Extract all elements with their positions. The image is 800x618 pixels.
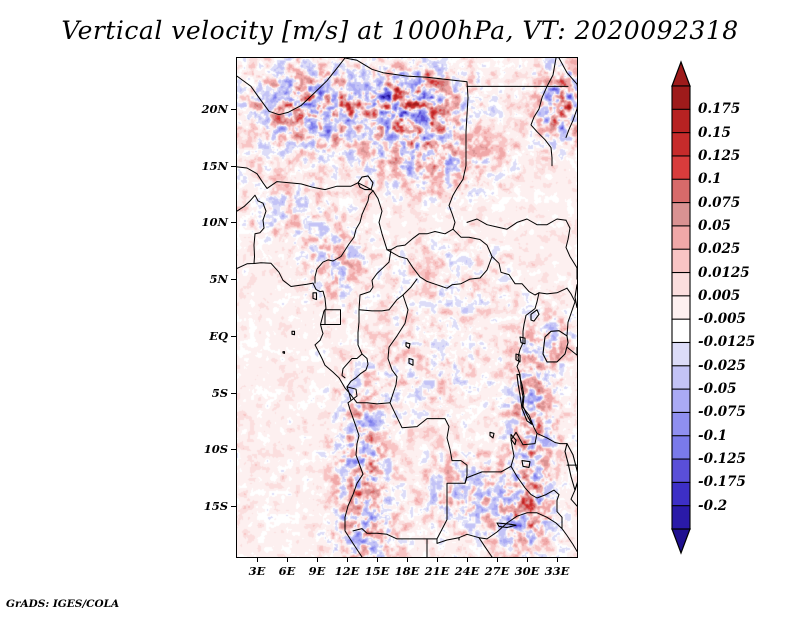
colorbar-tick-label: -0.075 <box>698 404 746 420</box>
colorbar-tick-label: -0.2 <box>698 498 727 514</box>
bioko-island <box>313 293 317 300</box>
colorbar-tick-label: -0.1 <box>698 428 727 444</box>
x-tick <box>287 557 288 562</box>
colorbar-bottom-arrow <box>672 529 690 553</box>
nile-river <box>531 58 556 166</box>
sao-tome <box>292 331 295 334</box>
x-tick <box>257 557 258 562</box>
y-axis-label: 5N <box>188 272 228 286</box>
x-tick <box>347 557 348 562</box>
lake-tumba <box>406 343 410 349</box>
colorbar-tick-label: 0.125 <box>698 148 740 164</box>
border-drc-angola-zambia <box>349 393 467 539</box>
lake-malawi <box>565 444 577 491</box>
lake-turkana <box>575 285 577 308</box>
colorbar: 0.1750.150.1250.10.0750.050.0250.01250.0… <box>668 60 798 555</box>
colorbar-tick-label: -0.175 <box>698 474 746 490</box>
border-mali-niger-s <box>237 167 267 189</box>
y-tick <box>231 449 236 450</box>
x-axis-label: 24E <box>455 564 480 578</box>
x-tick <box>557 557 558 562</box>
colorbar-band <box>672 412 690 436</box>
annobon <box>283 352 285 354</box>
border-nigeria-cameroon <box>315 183 373 283</box>
x-tick <box>467 557 468 562</box>
coast-red-sea <box>559 58 577 137</box>
colorbar-band <box>672 179 690 203</box>
y-tick <box>231 109 236 110</box>
colorbar-tick-label: 0.175 <box>698 101 740 117</box>
lake-mai-ndombe <box>409 359 413 366</box>
x-axis-label: 6E <box>279 564 296 578</box>
map-frame <box>236 57 578 558</box>
colorbar-tick-label: -0.125 <box>698 451 746 467</box>
x-axis-label: 3E <box>249 564 266 578</box>
y-tick <box>231 506 236 507</box>
border-cameroon-chad-car <box>347 191 391 393</box>
x-tick <box>527 557 528 562</box>
lake-chad <box>358 176 373 190</box>
border-congo-drc-river <box>388 295 408 403</box>
x-tick <box>437 557 438 562</box>
colorbar-band <box>672 319 690 343</box>
colorbar-tick-label: 0.1 <box>698 171 722 187</box>
x-tick <box>497 557 498 562</box>
border-zim-north <box>487 513 577 552</box>
colorbar-band <box>672 273 690 297</box>
x-axis-label: 18E <box>395 564 420 578</box>
colorbar-band <box>672 133 690 157</box>
lake-albert <box>531 310 539 321</box>
colorbar-tick-label: 0.005 <box>698 288 740 304</box>
y-axis-label: EQ <box>188 329 228 343</box>
x-axis-label: 21E <box>425 564 450 578</box>
lake-upemba <box>490 432 494 438</box>
border-angola-cabinda <box>347 387 357 401</box>
colorbar-tick-label: 0.05 <box>698 218 731 234</box>
border-ssudan-uganda <box>539 288 567 294</box>
border-ethiopia-w <box>566 220 577 279</box>
colorbar-band <box>672 156 690 180</box>
border-gabon-congo <box>342 354 362 378</box>
colorbar-tick-label: 0.0125 <box>698 265 750 281</box>
y-axis-label: 10S <box>188 442 228 456</box>
border-car-congo-s <box>389 279 417 310</box>
border-uganda-kenya <box>567 288 575 336</box>
x-axis-label: 12E <box>335 564 360 578</box>
y-axis-label: 10N <box>188 215 228 229</box>
colorbar-bar <box>668 60 702 555</box>
page-title: Vertical velocity [m/s] at 1000hPa, VT: … <box>0 16 800 45</box>
y-tick <box>231 393 236 394</box>
border-car-congo <box>387 250 492 289</box>
colorbar-band <box>672 366 690 390</box>
colorbar-band <box>672 459 690 483</box>
border-cameroon-congo-s <box>359 310 389 311</box>
lake-bangweulu <box>522 461 530 468</box>
lake-kariba <box>497 523 516 528</box>
border-burkina-benin-nigeria <box>237 195 266 263</box>
y-axis-label: 20N <box>188 102 228 116</box>
border-niger-nigeria <box>267 182 358 190</box>
y-axis-label: 5S <box>188 386 228 400</box>
colorbar-band <box>672 109 690 133</box>
y-axis-label: 15S <box>188 499 228 513</box>
colorbar-band <box>672 342 690 366</box>
y-axis-label: 15N <box>188 159 228 173</box>
border-malawi-moz-e <box>571 478 577 506</box>
border-bots-zim <box>479 538 492 557</box>
colorbar-band <box>672 482 690 506</box>
border-drc-uganda-tanzania <box>511 293 559 501</box>
colorbar-tick-label: 0.075 <box>698 195 740 211</box>
lake-victoria <box>543 331 568 362</box>
map-borders-overlay <box>237 58 577 557</box>
x-tick <box>317 557 318 562</box>
x-axis-label: 33E <box>545 564 570 578</box>
border-sudan-ssudan <box>467 219 566 229</box>
colorbar-band <box>672 249 690 273</box>
credit-text: GrADS: IGES/COLA <box>6 598 119 610</box>
colorbar-band <box>672 203 690 227</box>
border-tanzania-zambia-malawi <box>537 433 567 443</box>
x-axis-label: 15E <box>365 564 390 578</box>
colorbar-tick-label: -0.0125 <box>698 334 755 350</box>
colorbar-tick-label: -0.005 <box>698 311 746 327</box>
border-algeria-mali-niger <box>237 58 345 115</box>
border-car-sudan-drc <box>453 229 539 295</box>
colorbar-tick-label: -0.05 <box>698 381 736 397</box>
border-chad-libya-sudan <box>345 58 468 229</box>
x-axis-label: 9E <box>309 564 326 578</box>
colorbar-tick-label: -0.025 <box>698 358 746 374</box>
colorbar-band <box>672 436 690 460</box>
y-tick <box>231 222 236 223</box>
border-tanzania-kenya <box>567 347 577 355</box>
x-tick <box>407 557 408 562</box>
x-axis-label: 27E <box>485 564 510 578</box>
colorbar-band <box>672 226 690 250</box>
colorbar-tick-label: 0.025 <box>698 241 740 257</box>
y-tick <box>231 279 236 280</box>
grads-figure-page: Vertical velocity [m/s] at 1000hPa, VT: … <box>0 0 800 618</box>
border-zambia-zimbabwe-moz <box>465 466 511 483</box>
colorbar-top-arrow <box>672 62 690 86</box>
x-axis-label: 30E <box>515 564 540 578</box>
colorbar-tick-label: 0.15 <box>698 125 731 141</box>
border-chad-car <box>391 229 453 250</box>
colorbar-band <box>672 389 690 413</box>
colorbar-band <box>672 296 690 320</box>
colorbar-band <box>672 506 690 530</box>
y-tick <box>231 166 236 167</box>
colorbar-band <box>672 86 690 110</box>
map-plot-area <box>236 57 578 558</box>
coast-gulf-of-guinea <box>237 263 363 557</box>
x-tick <box>377 557 378 562</box>
y-tick <box>231 336 236 337</box>
